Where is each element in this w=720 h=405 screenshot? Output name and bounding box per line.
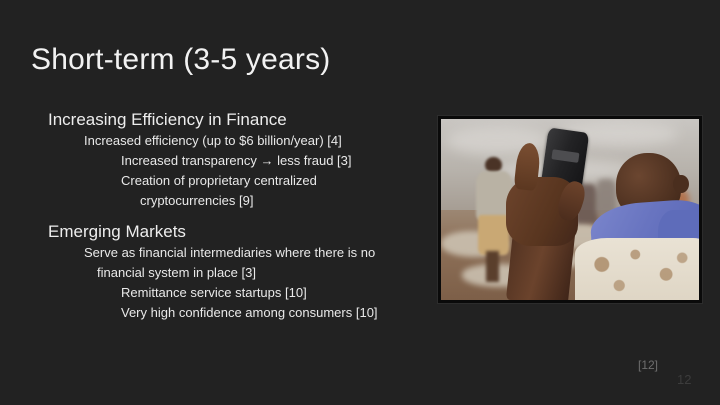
photo-phone-screen — [552, 149, 580, 163]
image-citation: [12] — [638, 358, 658, 372]
bullet-line: Very high confidence among consumers [10… — [121, 303, 424, 323]
content-section-emerging-markets: Emerging Markets Serve as financial inte… — [44, 220, 424, 323]
section-heading: Emerging Markets — [48, 220, 424, 243]
content-section-finance: Increasing Efficiency in Finance Increas… — [44, 108, 424, 211]
slide-title: Short-term (3-5 years) — [31, 43, 330, 77]
bullet-line: Increased transparency → less fraud [3] — [121, 151, 424, 171]
section-heading: Increasing Efficiency in Finance — [48, 108, 424, 131]
presentation-slide: Short-term (3-5 years) Increasing Effici… — [0, 0, 720, 405]
slide-number: 12 — [677, 372, 691, 387]
bullet-line: cryptocurrencies [9] — [140, 191, 424, 211]
slide-photo-frame — [438, 116, 702, 303]
bullet-line: Remittance service startups [10] — [121, 283, 424, 303]
photo-man-ear — [673, 175, 688, 193]
photo-background-figure — [478, 215, 509, 255]
slide-body: Increasing Efficiency in Finance Increas… — [44, 108, 424, 323]
photo-background-figure — [486, 251, 499, 282]
bullet-line-continuation: financial system in place [3] — [97, 263, 424, 283]
bullet-line: Serve as financial intermediaries where … — [84, 243, 424, 263]
bullet-line: Creation of proprietary centralized — [121, 171, 424, 191]
photo-man-with-mobile-phone — [441, 119, 699, 300]
bullet-line: Increased efficiency (up to $6 billion/y… — [84, 131, 424, 151]
photo-man-robe — [575, 238, 699, 300]
